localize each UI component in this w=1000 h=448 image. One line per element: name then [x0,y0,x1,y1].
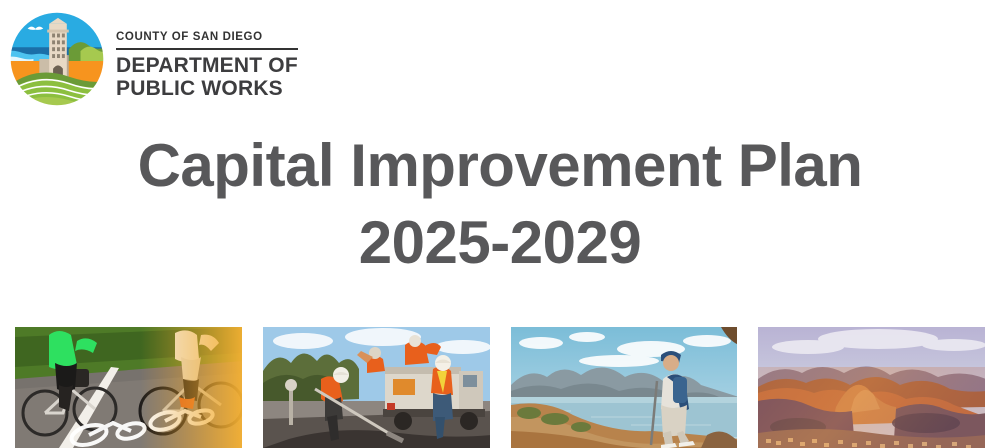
photo-hiker-lakeside [511,327,738,448]
department-wordmark: COUNTY OF SAN DIEGO DEPARTMENT OF PUBLIC… [116,17,298,100]
wordmark-divider [116,48,298,50]
photo-bike-lane-cyclists [15,327,242,448]
county-name-line: COUNTY OF SAN DIEGO [116,31,298,44]
page-title-line-1: Capital Improvement Plan [0,128,1000,205]
department-name-line-1: DEPARTMENT OF [116,54,298,78]
photo-road-crew-paving [263,327,490,448]
county-of-san-diego-seal-icon [8,10,106,108]
page-title-line-2: 2025-2029 [0,205,1000,282]
photo-mountains-sunset [758,327,985,448]
department-name-line-2: PUBLIC WORKS [116,77,298,101]
department-logo-lockup: COUNTY OF SAN DIEGO DEPARTMENT OF PUBLIC… [8,10,298,108]
page-title: Capital Improvement Plan 2025-2029 [0,128,1000,282]
photo-strip [15,327,985,448]
